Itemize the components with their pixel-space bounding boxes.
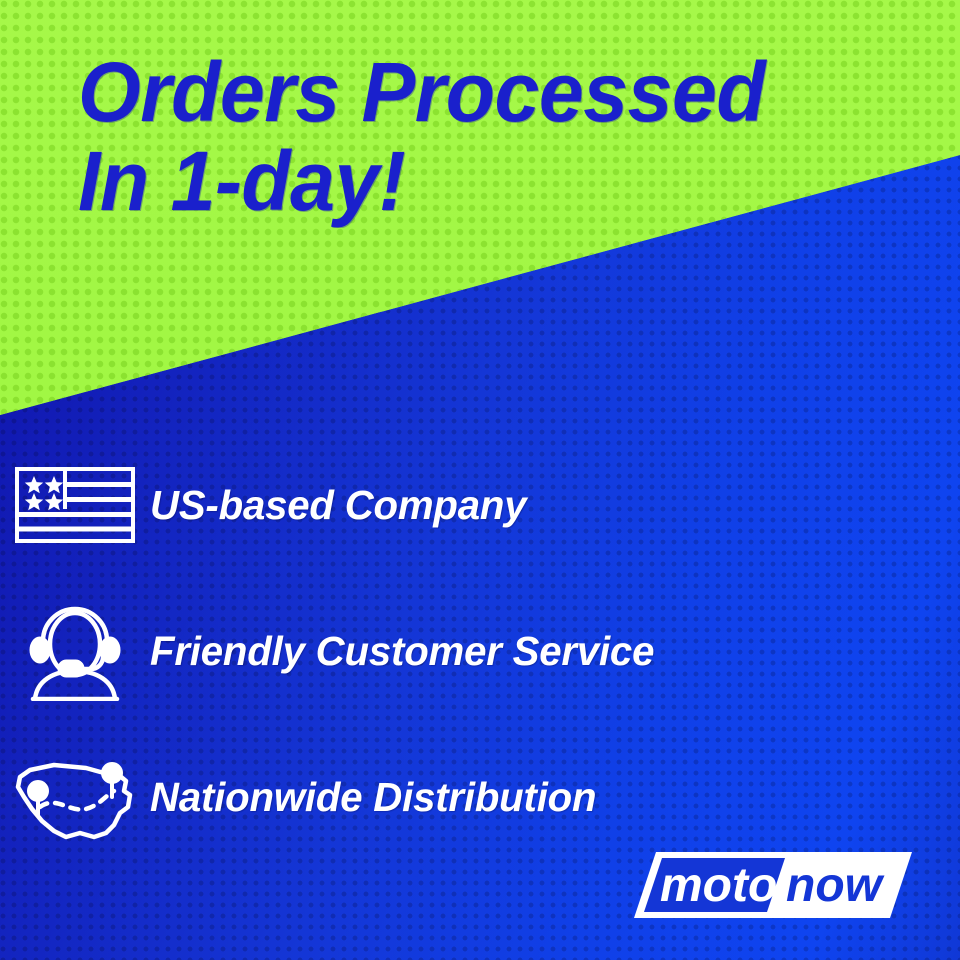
headline-line-1: Orders Processed — [78, 52, 894, 133]
headline-line-2: In 1-day! — [78, 141, 894, 222]
feature-item-customer-service: Friendly Customer Service — [0, 578, 960, 724]
feature-label: US-based Company — [150, 482, 526, 529]
logo-text-moto: moto — [660, 859, 777, 912]
feature-item-us-based: US-based Company — [0, 432, 960, 578]
motonow-logo[interactable]: moto now — [634, 848, 912, 922]
feature-label: Nationwide Distribution — [150, 774, 596, 821]
logo-text-now: now — [786, 859, 885, 912]
headset-support-agent-icon — [0, 601, 150, 701]
feature-label: Friendly Customer Service — [150, 628, 654, 675]
headline: Orders Processed In 1-day! — [78, 52, 928, 223]
feature-list: US-based Company — [0, 432, 960, 870]
us-map-distribution-icon — [0, 751, 150, 843]
promo-banner: Orders Processed In 1-day! — [0, 0, 960, 960]
us-flag-icon — [0, 467, 150, 543]
